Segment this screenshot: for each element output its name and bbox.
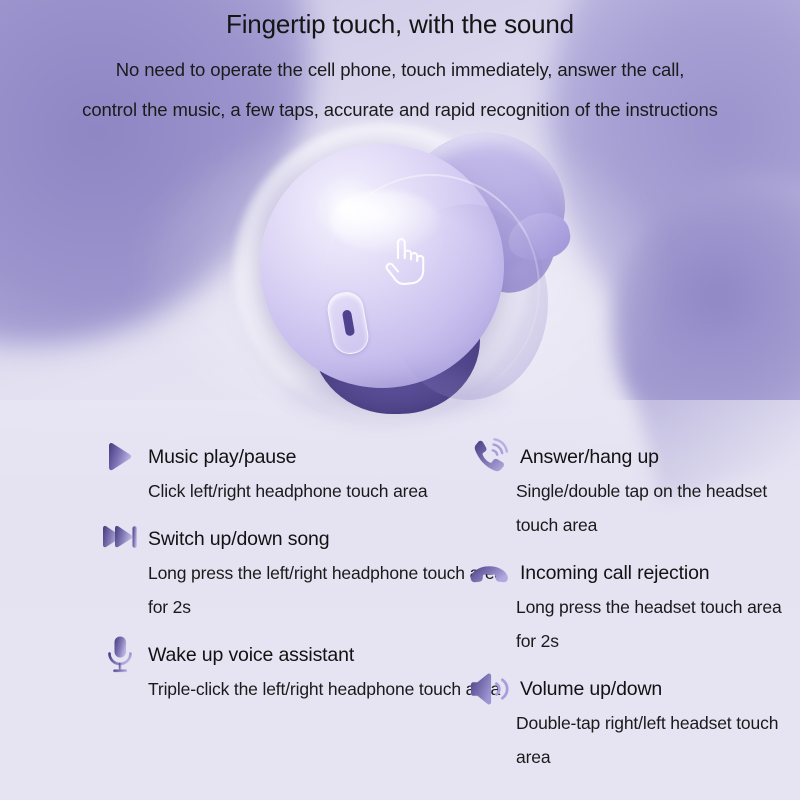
feature-header: Answer/hang up	[468, 440, 798, 474]
volume-icon	[468, 672, 512, 706]
feature-column-right: Answer/hang up Single/double tap on the …	[468, 440, 798, 788]
earbud-product-image	[226, 118, 586, 418]
header: Fingertip touch, with the sound No need …	[0, 0, 800, 121]
play-icon	[100, 440, 140, 474]
feature-list: Music play/pause Click left/right headph…	[0, 440, 800, 800]
phone-hangup-icon	[468, 556, 512, 590]
subtitle-line-1: No need to operate the cell phone, touch…	[0, 40, 800, 81]
feature-title: Answer/hang up	[520, 446, 659, 469]
feature-item-voice-assistant: Wake up voice assistant Triple-click the…	[100, 638, 510, 706]
product-feature-banner: Fingertip touch, with the sound No need …	[0, 0, 800, 800]
product-drop-shadow	[284, 368, 514, 420]
feature-item-answer-hang-up: Answer/hang up Single/double tap on the …	[468, 440, 798, 542]
feature-description: Long press the headset touch area for 2s	[516, 590, 798, 658]
page-title: Fingertip touch, with the sound	[0, 0, 800, 40]
phone-call-icon	[468, 440, 512, 474]
subtitle-line-2: control the music, a few taps, accurate …	[0, 81, 800, 121]
feature-header: Incoming call rejection	[468, 556, 798, 590]
feature-title: Music play/pause	[148, 446, 296, 469]
feature-description: Click left/right headphone touch area	[148, 474, 510, 508]
feature-title: Volume up/down	[520, 678, 662, 701]
feature-item-switch-song: Switch up/down song Long press the left/…	[100, 522, 510, 624]
feature-column-left: Music play/pause Click left/right headph…	[100, 440, 510, 720]
feature-description: Triple-click the left/right headphone to…	[148, 672, 510, 706]
feature-item-music-play-pause: Music play/pause Click left/right headph…	[100, 440, 510, 508]
touch-hand-icon	[380, 234, 426, 286]
feature-description: Single/double tap on the headset touch a…	[516, 474, 798, 542]
feature-header: Volume up/down	[468, 672, 798, 706]
feature-description: Double-tap right/left headset touch area	[516, 706, 798, 774]
feature-description: Long press the left/right headphone touc…	[148, 556, 510, 624]
feature-title: Wake up voice assistant	[148, 644, 354, 667]
microphone-icon	[100, 638, 140, 672]
feature-item-volume: Volume up/down Double-tap right/left hea…	[468, 672, 798, 774]
feature-item-call-rejection: Incoming call rejection Long press the h…	[468, 556, 798, 658]
feature-header: Music play/pause	[100, 440, 510, 474]
feature-title: Incoming call rejection	[520, 562, 709, 585]
feature-header: Switch up/down song	[100, 522, 510, 556]
feature-title: Switch up/down song	[148, 528, 329, 551]
skip-forward-icon	[100, 522, 140, 556]
earbud-body	[260, 144, 504, 388]
feature-header: Wake up voice assistant	[100, 638, 510, 672]
